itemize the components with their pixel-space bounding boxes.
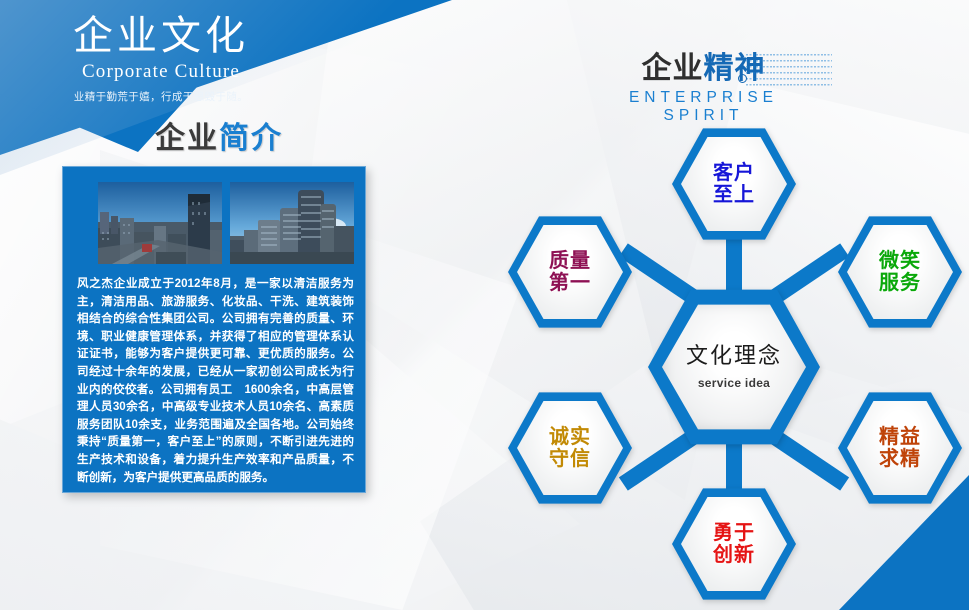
- hex-label-line1: 诚实: [549, 426, 591, 448]
- hex-label-line2: 创新: [713, 544, 755, 566]
- city-skyline-photo-2: [230, 182, 354, 264]
- hex-label-line2: 求精: [879, 448, 921, 470]
- hexagon-label: 客户 至上: [713, 162, 755, 207]
- hexagon-innovation[interactable]: 勇于 创新: [672, 486, 796, 602]
- culture-title-en: Corporate Culture: [36, 61, 286, 83]
- hex-label-line1: 勇于: [713, 522, 755, 544]
- culture-title-cn: 企业文化: [36, 14, 286, 58]
- photo-row: [98, 182, 354, 264]
- hex-label-line1: 质量: [549, 250, 591, 272]
- hexagon-label: 勇于 创新: [713, 522, 755, 567]
- intro-heading-dark: 企业: [155, 122, 219, 155]
- company-intro-panel: 风之杰企业成立于2012年8月，是一家以清洁服务为主，清洁用品、旅游服务、化妆品…: [62, 166, 366, 493]
- hex-label-line2: 至上: [713, 184, 755, 206]
- hexagon-label: 精益 求精: [879, 426, 921, 471]
- hex-label-line1: 精益: [879, 426, 921, 448]
- hex-label-line1: 微笑: [879, 250, 921, 272]
- slide-canvas: 企业文化 Corporate Culture 业精于勤荒于嬉，行成于思毁于随。 …: [0, 0, 969, 610]
- hex-label-line2: 守信: [549, 448, 591, 470]
- hexagon-quality-first[interactable]: 质量 第一: [508, 214, 632, 330]
- hexagon-customer-first[interactable]: 客户 至上: [672, 126, 796, 242]
- hexagon-label: 诚实 守信: [549, 426, 591, 471]
- hex-label-line1: 客户: [713, 162, 755, 184]
- hexagon-center-culture-idea[interactable]: 文化理念 service idea: [648, 288, 820, 446]
- hexagon-label: 质量 第一: [549, 250, 591, 295]
- culture-hexagon-diagram: 文化理念 service idea 客户 至上 微笑 服务: [498, 118, 969, 610]
- center-label-en: service idea: [698, 377, 770, 390]
- city-skyline-photo-1: [98, 182, 222, 264]
- corporate-culture-title-block: 企业文化 Corporate Culture 业精于勤荒于嬉，行成于思毁于随。: [36, 14, 286, 104]
- hexagon-integrity[interactable]: 诚实 守信: [508, 390, 632, 506]
- decorative-microtext: [746, 54, 832, 86]
- company-intro-body: 风之杰企业成立于2012年8月，是一家以清洁服务为主，清洁用品、旅游服务、化妆品…: [77, 275, 354, 486]
- company-intro-heading: 企业简介: [155, 113, 283, 157]
- spirit-title-dark: 企业: [642, 52, 704, 85]
- intro-heading-blue: 简介: [219, 122, 283, 155]
- hex-label-line2: 第一: [549, 272, 591, 294]
- hexagon-excellence[interactable]: 精益 求精: [838, 390, 962, 506]
- hexagon-smile-service[interactable]: 微笑 服务: [838, 214, 962, 330]
- hexagon-label: 微笑 服务: [879, 250, 921, 295]
- culture-subtitle: 业精于勤荒于嬉，行成于思毁于随。: [36, 89, 286, 104]
- decorative-circle-icon: [738, 74, 747, 83]
- center-label-cn: 文化理念: [686, 344, 782, 369]
- hexagon-center-label: 文化理念 service idea: [686, 344, 782, 390]
- enterprise-spirit-title-block: 企业精神 ENTERPRISE SPIRIT: [596, 52, 811, 125]
- hex-label-line2: 服务: [879, 272, 921, 294]
